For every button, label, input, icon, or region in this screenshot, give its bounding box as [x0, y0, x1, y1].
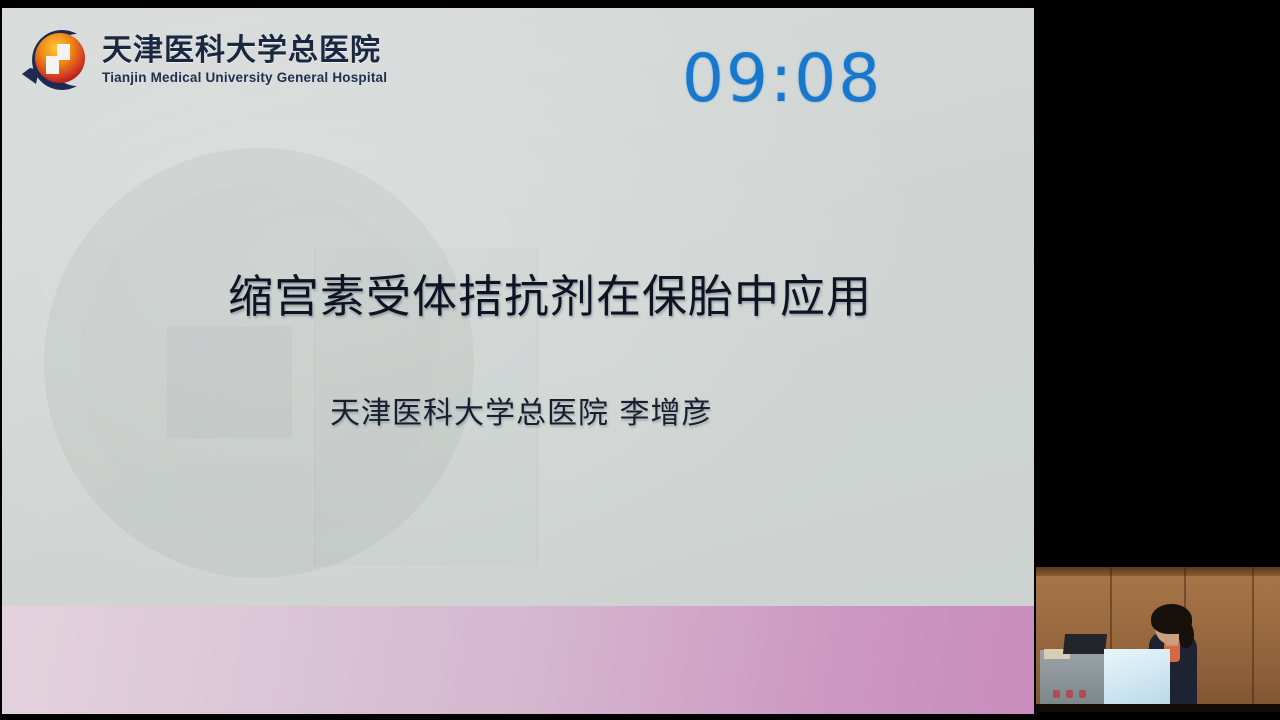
hospital-name-en: Tianjin Medical University General Hospi… — [102, 71, 387, 85]
hospital-logo-text: 天津医科大学总医院 Tianjin Medical University Gen… — [102, 36, 387, 85]
wall-top-trim — [1036, 567, 1280, 576]
speaker-glasses — [1157, 619, 1184, 626]
wall-panel-seam — [1252, 567, 1254, 712]
presenter-video-overlay[interactable] — [1036, 567, 1280, 712]
presentation-slide: 天津医科大学总医院 Tianjin Medical University Gen… — [2, 8, 1034, 714]
desk-logo-char — [1079, 690, 1086, 698]
hospital-logo-block: 天津医科大学总医院 Tianjin Medical University Gen… — [20, 22, 387, 98]
slide-subtitle: 天津医科大学总医院 李增彦 — [330, 388, 713, 432]
screen-root: 天津医科大学总医院 Tianjin Medical University Gen… — [0, 0, 1280, 720]
desk-logo-char — [1053, 690, 1060, 698]
clock-display: 09:08 — [682, 40, 882, 117]
speaker-hand-lower — [1142, 679, 1151, 690]
slide-title: 缩宫素受体拮抗剂在保胎中应用 — [228, 260, 872, 325]
floor-shadow — [1036, 704, 1280, 712]
laptop — [1063, 634, 1107, 654]
lectern — [1104, 649, 1170, 704]
slide-footer-band — [2, 606, 1034, 714]
hospital-name-cn: 天津医科大学总医院 — [102, 36, 387, 66]
desk-logo-char — [1066, 690, 1073, 698]
hospital-logo-icon — [20, 22, 92, 98]
